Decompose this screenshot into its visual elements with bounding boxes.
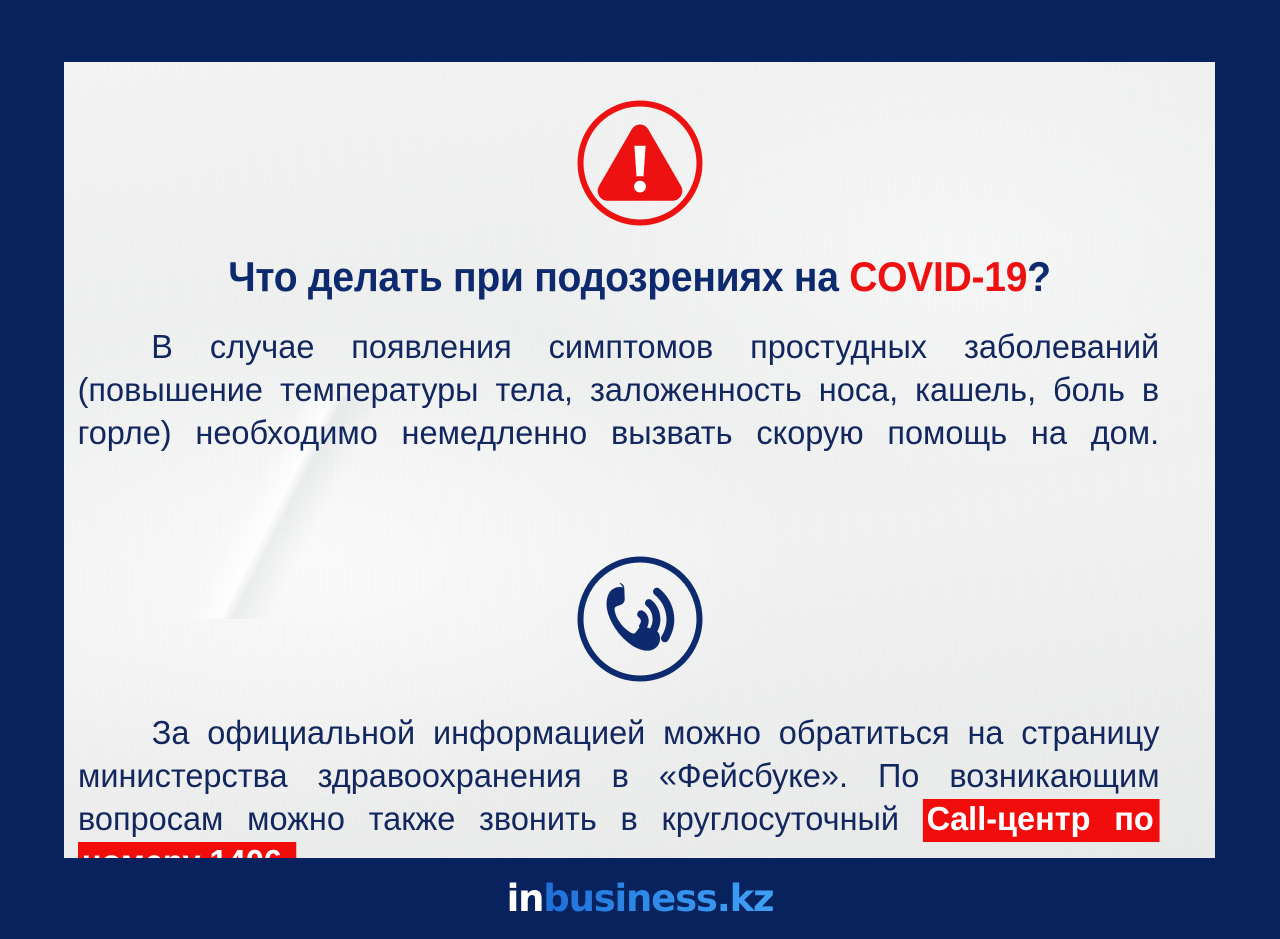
- footer-bar: inbusiness.kz: [0, 858, 1280, 939]
- headline-text-part1: Что делать при подозрениях на: [228, 253, 849, 300]
- headline-covid-label: COVID-19: [849, 253, 1027, 300]
- logo-business-text: business.kz: [543, 877, 773, 920]
- poster-background: Что делать при подозрениях на COVID-19? …: [0, 0, 1280, 939]
- page-title: Что делать при подозрениях на COVID-19?: [104, 254, 1174, 300]
- official-info-block: За официальной информацией можно обратит…: [64, 712, 1215, 858]
- content-card: Что делать при подозрениях на COVID-19? …: [64, 62, 1215, 858]
- logo-in-text: in: [507, 877, 544, 920]
- phone-icon-row: [64, 554, 1215, 684]
- symptoms-paragraph: В случае появления симптомов простудных …: [64, 326, 1180, 498]
- official-info-paragraph: За официальной информацией можно обратит…: [78, 712, 1160, 858]
- headline-question-mark: ?: [1027, 253, 1051, 300]
- phone-call-icon: [575, 554, 705, 684]
- warning-icon-row: [64, 98, 1215, 228]
- warning-triangle-icon: [575, 98, 705, 228]
- inbusiness-logo[interactable]: inbusiness.kz: [507, 877, 774, 920]
